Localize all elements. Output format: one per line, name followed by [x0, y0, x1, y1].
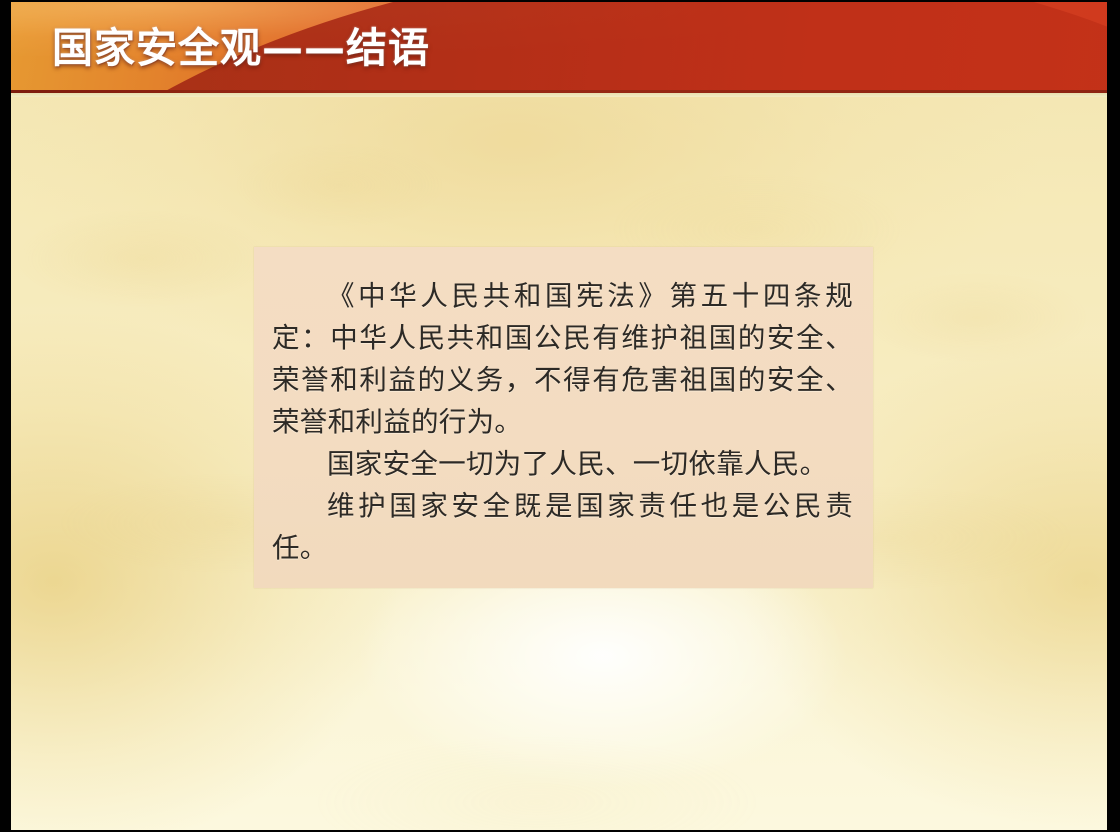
quote-paragraph-3: 维护国家安全既是国家责任也是公民责任。 — [272, 485, 853, 569]
slide-body: 《中华人民共和国宪法》第五十四条规定：中华人民共和国公民有维护祖国的安全、荣誉和… — [10, 97, 1108, 832]
presentation-slide: 国家安全观——结语 《中华人民共和国宪法》第五十四条规定：中华人民共和国公民有维… — [10, 0, 1108, 832]
quote-text-box: 《中华人民共和国宪法》第五十四条规定：中华人民共和国公民有维护祖国的安全、荣誉和… — [254, 247, 873, 588]
slide-frame: 国家安全观——结语 《中华人民共和国宪法》第五十四条规定：中华人民共和国公民有维… — [0, 0, 1120, 832]
slide-title: 国家安全观——结语 — [52, 24, 430, 72]
letterbox-bar-left — [0, 0, 11, 832]
quote-paragraph-2: 国家安全一切为了人民、一切依靠人民。 — [272, 443, 853, 485]
quote-paragraph-1: 《中华人民共和国宪法》第五十四条规定：中华人民共和国公民有维护祖国的安全、荣誉和… — [272, 275, 853, 443]
letterbox-bar-right — [1107, 0, 1120, 832]
letterbox-bar-top — [0, 0, 1120, 2]
